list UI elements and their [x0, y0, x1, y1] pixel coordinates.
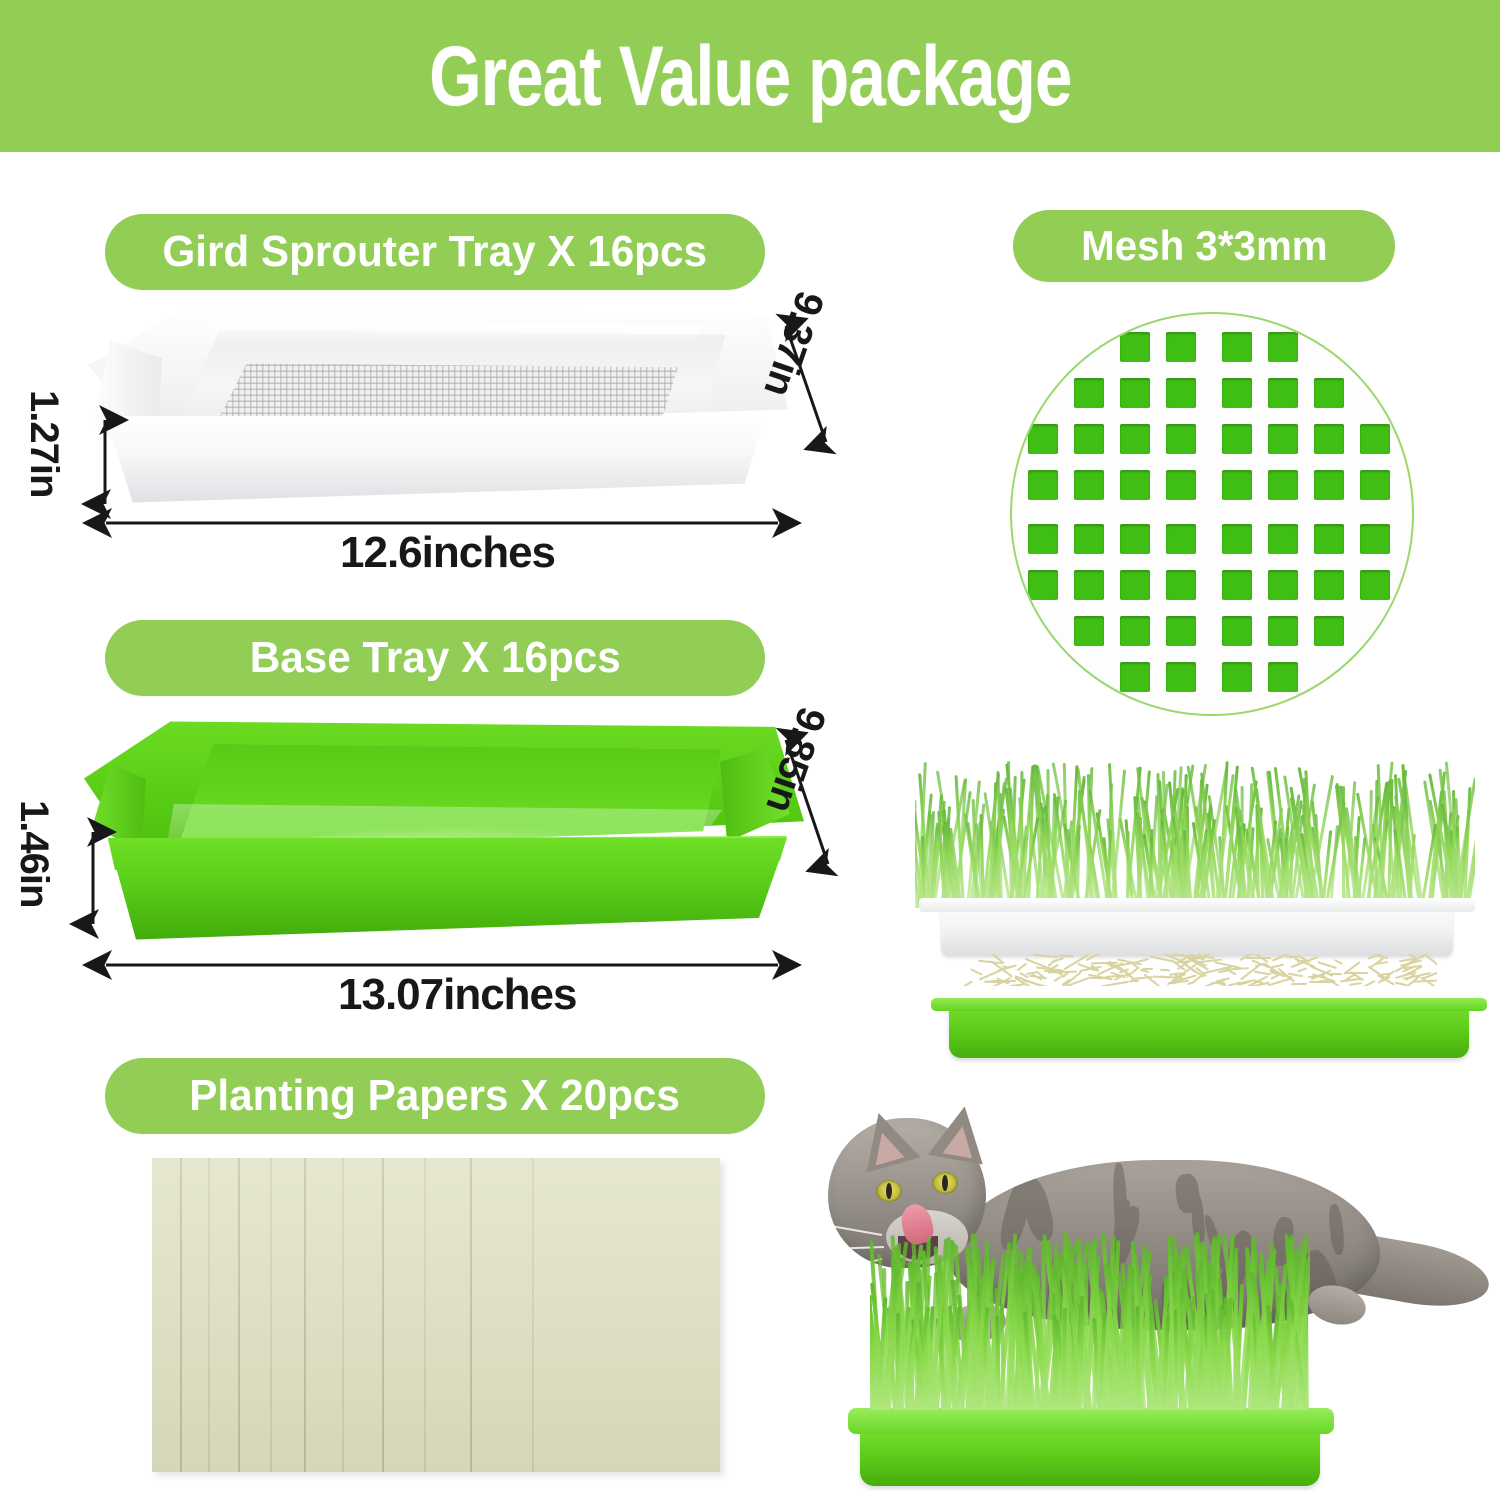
- cat-grass-blades: [870, 1230, 1310, 1410]
- header-banner: Great Value package: [0, 0, 1500, 152]
- base-tray-illustration: [84, 718, 804, 950]
- mesh-hole: [1360, 524, 1390, 554]
- mesh-hole: [1222, 662, 1252, 692]
- mesh-hole: [1268, 570, 1298, 600]
- paper-sheet-edge: [424, 1158, 426, 1472]
- root-strand: [1017, 962, 1027, 971]
- base-height-label: 1.46in: [11, 800, 56, 907]
- cat-photo: [800, 1090, 1500, 1491]
- mesh-hole: [1120, 424, 1150, 454]
- cat-pupil-right: [942, 1175, 948, 1191]
- mesh-hole: [1268, 662, 1298, 692]
- root-strand: [1297, 967, 1307, 972]
- root-strand: [1246, 957, 1271, 959]
- mesh-hole: [1074, 378, 1104, 408]
- mesh-hole: [1360, 570, 1390, 600]
- mesh-hole: [1222, 570, 1252, 600]
- cat-grass-tray-lip: [848, 1408, 1334, 1434]
- mesh-grid: [1012, 314, 1412, 714]
- mesh-hole: [1360, 470, 1390, 500]
- mesh-hole: [1314, 524, 1344, 554]
- mesh-hole: [1314, 378, 1344, 408]
- mesh-hole: [1166, 470, 1196, 500]
- mesh-hole: [1268, 332, 1298, 362]
- cat-fur-stripe: [1327, 1204, 1345, 1256]
- root-strand: [1033, 954, 1058, 958]
- root-strand: [1160, 968, 1170, 971]
- mesh-hole: [1028, 524, 1058, 554]
- root-strand: [1254, 970, 1271, 975]
- mesh-hole: [1166, 616, 1196, 646]
- root-strand: [970, 968, 983, 975]
- paper-sheet-edge: [532, 1158, 534, 1472]
- microgreens-green-base-tray: [949, 998, 1469, 1058]
- root-strand: [963, 980, 972, 986]
- label-pill-mesh: Mesh 3*3mm: [1013, 210, 1395, 282]
- label-pill-planting-papers-text: Planting Papers X 20pcs: [190, 1071, 681, 1121]
- root-strand: [1309, 981, 1335, 983]
- mesh-hole: [1268, 470, 1298, 500]
- paper-sheet-edge: [208, 1158, 210, 1472]
- mesh-hole: [1166, 378, 1196, 408]
- mesh-hole: [1120, 570, 1150, 600]
- mesh-hole: [1120, 470, 1150, 500]
- infographic-canvas: Great Value package Gird Sprouter Tray X…: [0, 0, 1500, 1491]
- base-width-label: 13.07inches: [338, 970, 577, 1020]
- root-strand: [1362, 980, 1376, 986]
- cat-pupil-left: [886, 1183, 892, 1199]
- root-strand: [1349, 982, 1362, 986]
- sprouter-tray-front-face: [92, 416, 772, 510]
- mesh-hole: [1120, 378, 1150, 408]
- mesh-hole: [1360, 424, 1390, 454]
- mesh-hole: [1120, 616, 1150, 646]
- base-tray-front-face: [94, 838, 794, 946]
- mesh-hole: [1074, 570, 1104, 600]
- label-pill-sprouter-tray: Gird Sprouter Tray X 16pcs: [105, 214, 765, 290]
- mesh-hole: [1268, 378, 1298, 408]
- sprouter-width-label: 12.6inches: [340, 528, 555, 578]
- root-strand: [1002, 965, 1012, 968]
- mesh-hole: [1222, 424, 1252, 454]
- page-title: Great Value package: [429, 28, 1071, 125]
- mesh-hole: [1268, 524, 1298, 554]
- planting-papers-stack: [152, 1158, 720, 1472]
- microgreens-photo: [905, 758, 1493, 1058]
- paper-sheet-edge: [470, 1158, 472, 1472]
- label-pill-sprouter-tray-text: Gird Sprouter Tray X 16pcs: [163, 227, 708, 277]
- root-strand: [1153, 975, 1170, 978]
- mesh-hole: [1074, 470, 1104, 500]
- paper-sheet-edge: [342, 1158, 344, 1472]
- mesh-hole: [1166, 524, 1196, 554]
- sprout-blade: [1238, 826, 1241, 908]
- mesh-hole: [1166, 570, 1196, 600]
- root-strand: [1334, 959, 1343, 965]
- paper-sheet-edge: [238, 1158, 240, 1472]
- root-strand: [1053, 976, 1062, 982]
- mesh-hole: [1166, 662, 1196, 692]
- mesh-hole: [1028, 470, 1058, 500]
- mesh-hole: [1314, 616, 1344, 646]
- mesh-hole: [1268, 616, 1298, 646]
- mesh-hole: [1314, 570, 1344, 600]
- mesh-hole: [1120, 332, 1150, 362]
- mesh-hole: [1268, 424, 1298, 454]
- grass-blade: [1135, 1306, 1140, 1410]
- mesh-closeup-circle: [1010, 312, 1414, 716]
- sprouter-tray-body: [88, 300, 788, 515]
- label-pill-base-tray: Base Tray X 16pcs: [105, 620, 765, 696]
- mesh-hole: [1166, 332, 1196, 362]
- microgreens-sprouts: [915, 758, 1475, 908]
- root-strand: [1008, 980, 1016, 983]
- cat-inner-ear-right: [943, 1124, 978, 1159]
- mesh-hole: [1222, 378, 1252, 408]
- paper-sheet-edge: [382, 1158, 384, 1472]
- root-strand: [1286, 956, 1298, 959]
- root-strand: [1291, 983, 1307, 985]
- mesh-hole: [1166, 424, 1196, 454]
- mesh-hole: [1222, 470, 1252, 500]
- root-strand: [1414, 979, 1437, 982]
- sprouter-height-label: 1.27in: [21, 390, 66, 497]
- mesh-hole: [1222, 332, 1252, 362]
- root-strand: [1101, 981, 1129, 986]
- mesh-hole: [1120, 662, 1150, 692]
- label-pill-base-tray-text: Base Tray X 16pcs: [249, 633, 620, 683]
- paper-sheet-edge: [304, 1158, 306, 1472]
- mesh-hole: [1120, 524, 1150, 554]
- mesh-hole: [1222, 524, 1252, 554]
- root-strand: [1394, 981, 1407, 986]
- mesh-hole: [1314, 470, 1344, 500]
- grass-blade: [1062, 1308, 1067, 1410]
- mesh-hole: [1028, 424, 1058, 454]
- microgreens-white-tray: [941, 898, 1453, 956]
- paper-sheet-edge: [270, 1158, 272, 1472]
- paper-sheet-edge: [180, 1158, 182, 1472]
- mesh-hole: [1074, 424, 1104, 454]
- microgreens-roots: [963, 954, 1437, 986]
- sprouter-tray-illustration: [88, 300, 788, 515]
- mesh-hole: [1314, 424, 1344, 454]
- mesh-hole: [1074, 524, 1104, 554]
- label-pill-planting-papers: Planting Papers X 20pcs: [105, 1058, 765, 1134]
- label-pill-mesh-text: Mesh 3*3mm: [1081, 222, 1328, 270]
- mesh-hole: [1028, 570, 1058, 600]
- mesh-hole: [1074, 616, 1104, 646]
- mesh-hole: [1222, 616, 1252, 646]
